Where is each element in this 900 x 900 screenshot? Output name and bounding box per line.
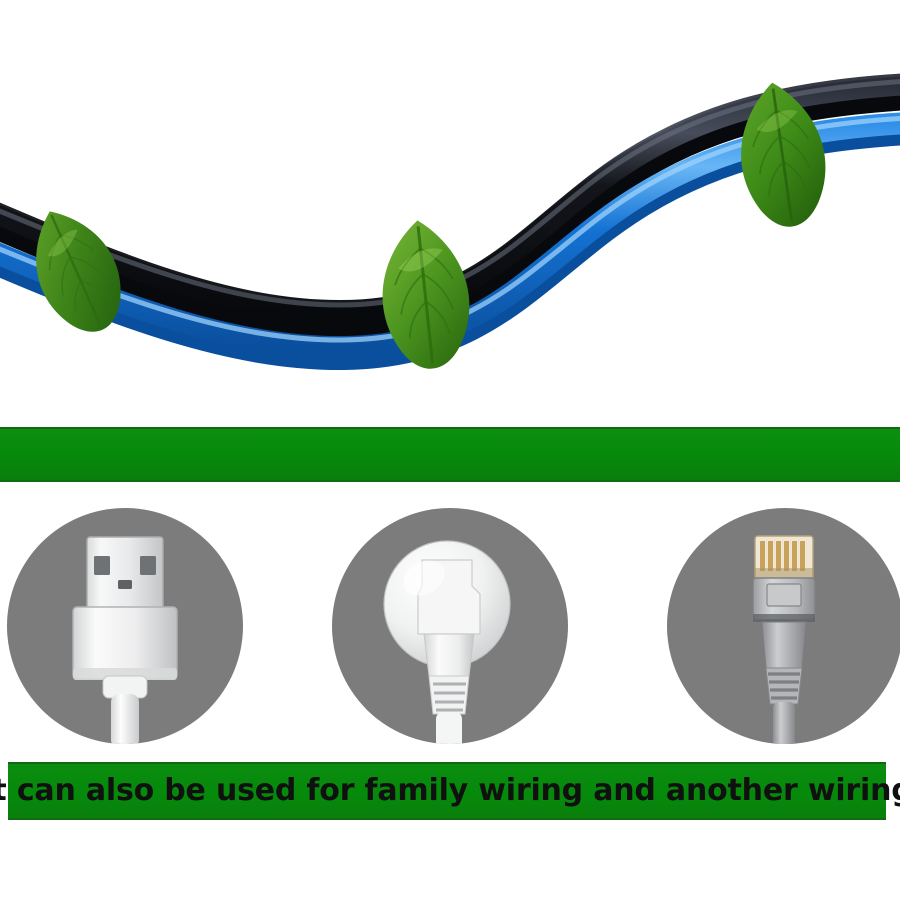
usb-connector-icon xyxy=(7,508,243,744)
product-image-page: It can also be used for family wiring an… xyxy=(0,0,900,900)
power-plug-icon xyxy=(332,508,568,744)
power-plug-icon-cell xyxy=(332,508,568,744)
usb-circle-background xyxy=(7,508,243,744)
caption-text: It can also be used for family wiring an… xyxy=(0,776,900,806)
product-photo xyxy=(0,0,900,420)
power-plug-circle-background xyxy=(332,508,568,744)
connector-icon-row xyxy=(0,500,900,750)
caption-banner: It can also be used for family wiring an… xyxy=(8,762,886,820)
usb-icon-cell xyxy=(7,508,243,744)
ethernet-icon-cell xyxy=(667,508,900,744)
ethernet-circle-background xyxy=(667,508,900,744)
cable-scene-illustration xyxy=(0,0,900,420)
green-divider-bar xyxy=(0,427,900,482)
ethernet-rj45-icon xyxy=(667,508,900,744)
